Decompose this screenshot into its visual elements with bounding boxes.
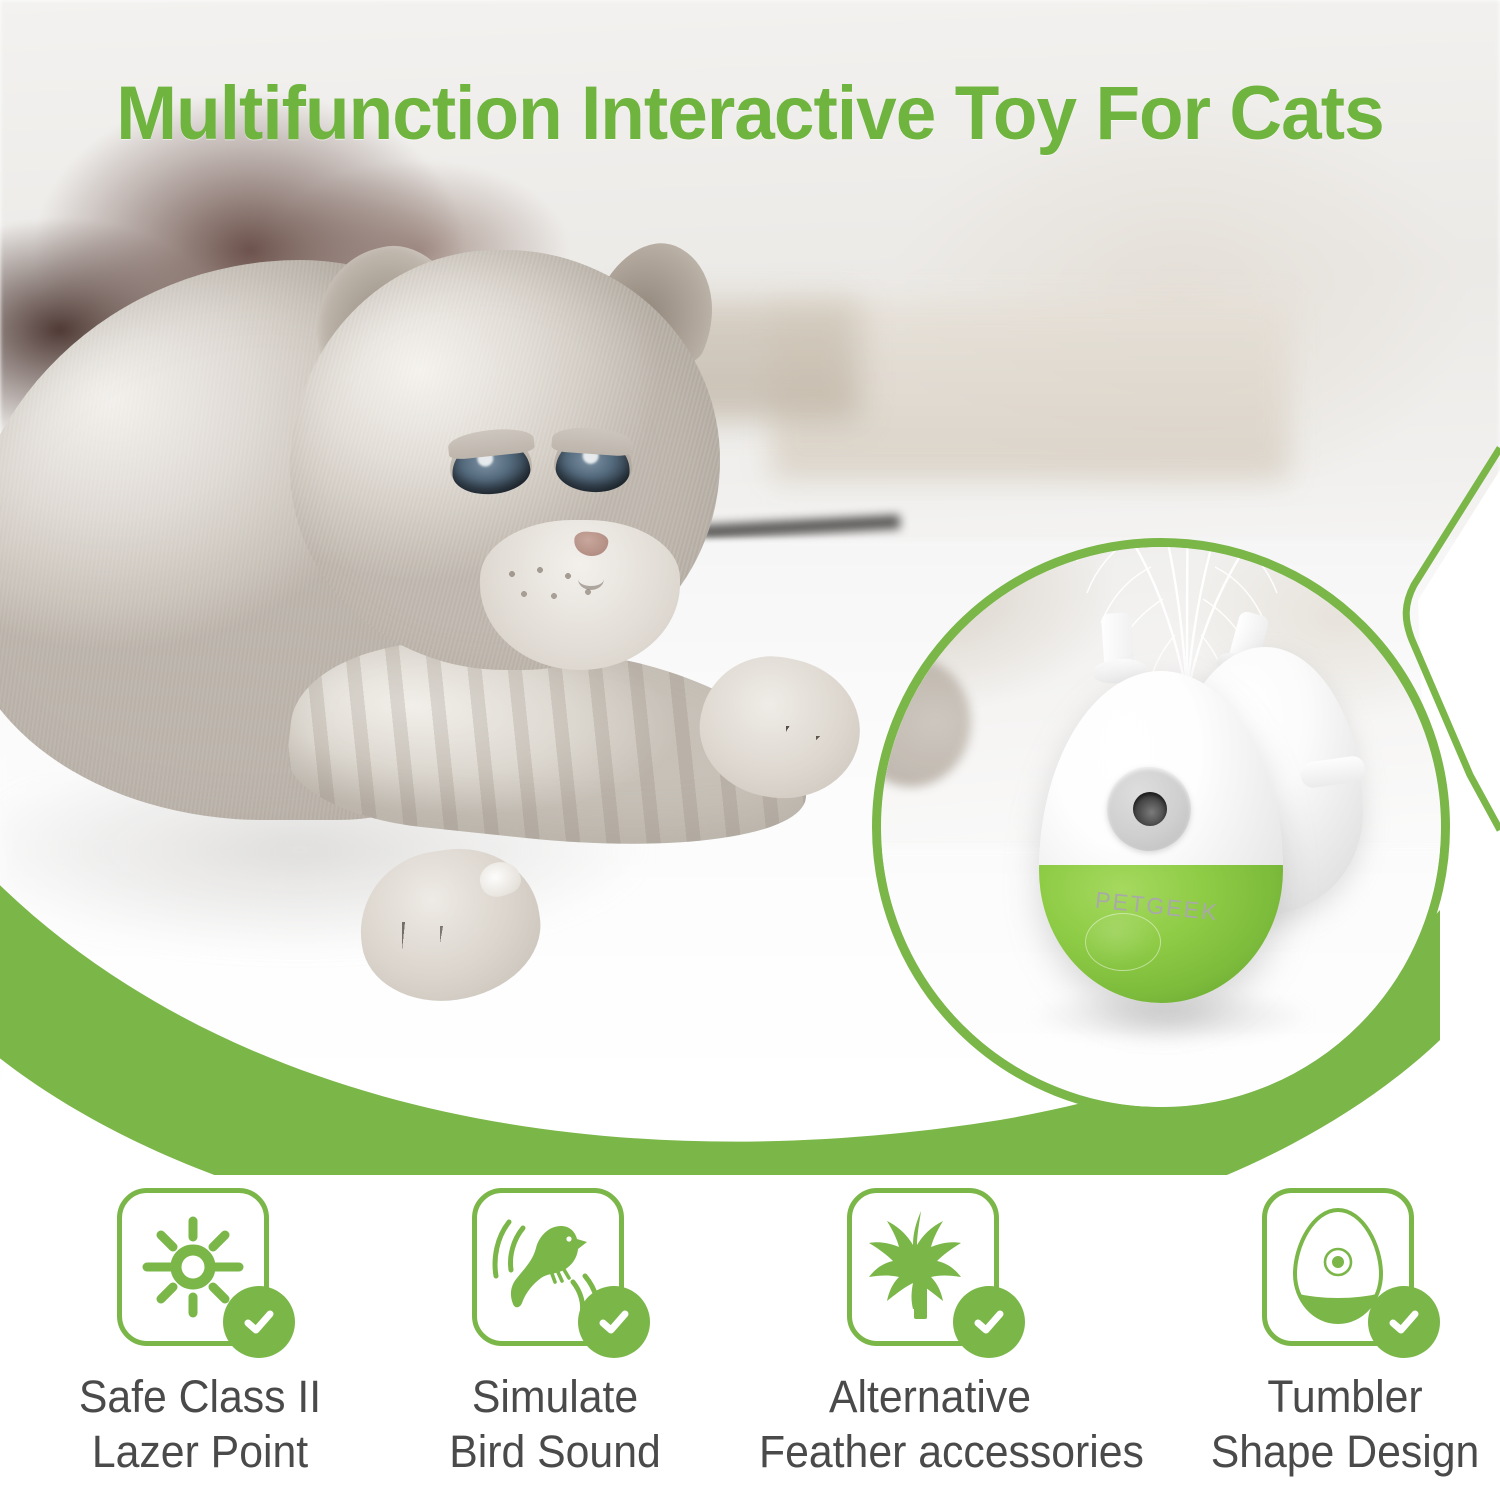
feature-label-line2: Feather accessories xyxy=(759,1425,1101,1480)
check-icon xyxy=(1384,1302,1424,1342)
feature-item-laser: Safe Class II Lazer Point xyxy=(20,1182,380,1501)
feature-label-line2: Lazer Point xyxy=(29,1425,371,1480)
check-icon xyxy=(969,1302,1009,1342)
feature-label: Simulate Bird Sound xyxy=(384,1370,726,1480)
product-infographic: PETGEEK Multifunction Interactive Toy Fo… xyxy=(0,0,1500,1501)
feature-label-line2: Bird Sound xyxy=(384,1425,726,1480)
feature-label-line1: Tumbler xyxy=(1174,1370,1500,1425)
status-badge xyxy=(223,1286,295,1358)
feature-item-feather: Alternative Feather accessories xyxy=(750,1182,1110,1501)
feature-label-line2: Shape Design xyxy=(1174,1425,1500,1480)
feature-row: Safe Class II Lazer Point xyxy=(0,1182,1500,1501)
status-badge xyxy=(1368,1286,1440,1358)
page-title: Multifunction Interactive Toy For Cats xyxy=(30,70,1470,157)
power-button[interactable] xyxy=(1085,913,1161,971)
feature-item-bird-sound: Simulate Bird Sound xyxy=(375,1182,735,1501)
feature-label-line1: Simulate xyxy=(384,1370,726,1425)
check-icon xyxy=(239,1302,279,1342)
circle-photo: PETGEEK xyxy=(881,547,1441,1107)
feature-label: Alternative Feather accessories xyxy=(759,1370,1101,1480)
product-green-base xyxy=(1039,865,1283,1003)
hero-section: PETGEEK Multifunction Interactive Toy Fo… xyxy=(0,0,1500,1175)
status-badge xyxy=(953,1286,1025,1358)
feature-label: Safe Class II Lazer Point xyxy=(29,1370,371,1480)
laser-aperture xyxy=(1133,792,1167,826)
feather-socket xyxy=(1101,612,1135,678)
laser-lens xyxy=(1107,767,1191,851)
feature-label-line1: Safe Class II xyxy=(29,1370,371,1425)
product-closeup-circle: PETGEEK xyxy=(872,538,1450,1116)
feature-label: Tumbler Shape Design xyxy=(1174,1370,1500,1480)
feature-label-line1: Alternative xyxy=(759,1370,1101,1425)
status-badge xyxy=(578,1286,650,1358)
feature-icon-wrap xyxy=(835,1182,1025,1360)
check-icon xyxy=(594,1302,634,1342)
feature-icon-wrap xyxy=(105,1182,295,1360)
product-green-highlight xyxy=(1039,859,1283,877)
circle-ring-border: PETGEEK xyxy=(872,538,1450,1116)
feature-icon-wrap xyxy=(460,1182,650,1360)
feature-item-tumbler: Tumbler Shape Design xyxy=(1165,1182,1500,1501)
feature-icon-wrap xyxy=(1250,1182,1440,1360)
